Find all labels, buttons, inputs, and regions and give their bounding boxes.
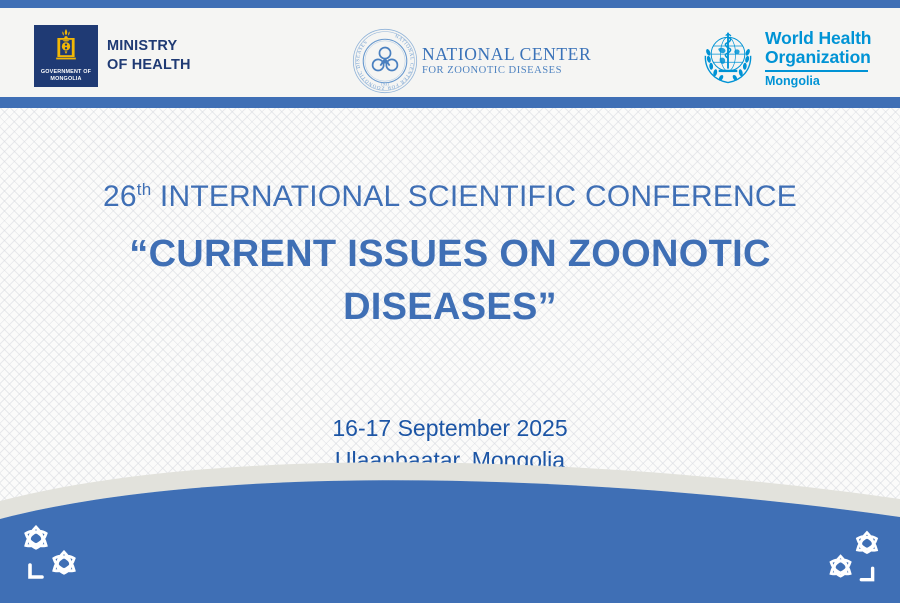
national-center-name: NATIONAL CENTER FOR ZOONOTIC DISEASES: [422, 44, 591, 78]
triquetra-ornament-left: [14, 519, 94, 589]
logo-row: GOVERNMENT OF MONGOLIA MINISTRY OF HEALT…: [0, 8, 900, 97]
bottom-blue-wave: [0, 455, 900, 603]
page-title: “CURRENT ISSUES ON ZOONOTIC DISEASES”: [60, 228, 840, 334]
conference-line-text: INTERNATIONAL SCIENTIFIC CONFERENCE: [160, 180, 797, 213]
triquetra-ornament-right: [812, 525, 888, 591]
ministry-emblem-caption-line1: GOVERNMENT OF: [41, 69, 91, 76]
who-country-label: Mongolia: [765, 74, 871, 88]
event-dates: 16-17 September 2025: [0, 412, 900, 444]
who-logo: World Health Organization Mongolia: [699, 28, 871, 88]
who-wordmark: World Health Organization Mongolia: [765, 28, 871, 88]
ministry-name-line1: MINISTRY: [107, 37, 191, 56]
who-name-line1: World Health: [765, 29, 871, 48]
conference-ordinal-line: 26th INTERNATIONAL SCIENTIFIC CONFERENCE: [0, 178, 900, 216]
national-center-logo: NATIONAL CENTER FOR ZOONOTIC DISEASES 19…: [352, 28, 591, 94]
seal-year: 1931: [381, 81, 390, 86]
mongolia-soyombo-emblem: GOVERNMENT OF MONGOLIA: [34, 25, 98, 87]
who-emblem: [699, 28, 757, 86]
who-divider-rule: [765, 70, 868, 72]
zoonotic-biohazard-seal: NATIONAL CENTER FOR ZOONOTIC DISEASES 19…: [352, 28, 418, 94]
conference-ordinal-suffix: th: [137, 180, 152, 199]
ministry-name-line2: OF HEALTH: [107, 56, 191, 75]
conference-title-slide: GOVERNMENT OF MONGOLIA MINISTRY OF HEALT…: [0, 0, 900, 603]
ministry-emblem-caption-line2: MONGOLIA: [41, 76, 91, 83]
header-separator-bar: [0, 97, 900, 108]
who-name-line2: Organization: [765, 48, 871, 67]
ministry-of-health-name: MINISTRY OF HEALTH: [107, 37, 191, 75]
national-center-name-line1: NATIONAL CENTER: [422, 44, 591, 64]
conference-ordinal: 26: [103, 180, 137, 213]
national-center-name-line2: FOR ZOONOTIC DISEASES: [422, 64, 591, 78]
top-accent-bar: [0, 0, 900, 8]
ministry-of-health-logo: GOVERNMENT OF MONGOLIA MINISTRY OF HEALT…: [34, 25, 191, 87]
